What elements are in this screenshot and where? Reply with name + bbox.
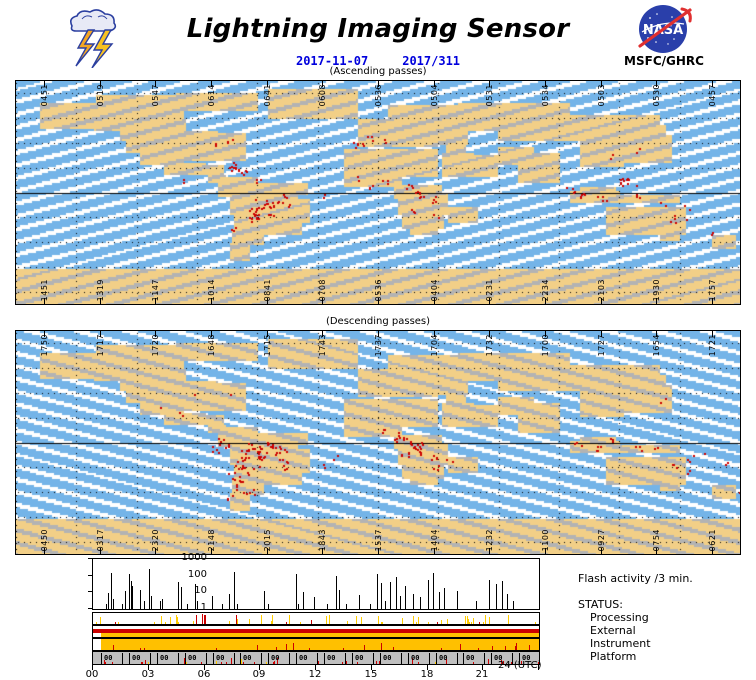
orbit-time-label-desc-top-3: 1648 [207, 334, 216, 356]
processing-spike [468, 619, 469, 624]
flash-activity-bar [212, 596, 213, 609]
platform-orbit-segment[interactable]: 00 [101, 653, 123, 664]
instrument-alert-spike [286, 644, 287, 650]
instrument-alert-spike [516, 643, 517, 650]
orbit-time-label-asc-top-3: 0614 [207, 84, 216, 106]
processing-spike [413, 616, 414, 624]
flash-activity-bar [433, 573, 434, 609]
instrument-alert-spike [293, 643, 294, 650]
platform-segment-label: 00 [132, 654, 140, 662]
orbit-time-label-asc-top-11: 0530 [652, 84, 661, 106]
flash-activity-bar [111, 573, 112, 609]
legend-processing: Processing [590, 611, 649, 624]
processing-spike [347, 621, 348, 624]
platform-segment-label: 00 [411, 654, 419, 662]
x-axis-label-12: 12 [300, 669, 330, 680]
processing-spike [165, 622, 166, 624]
orbit-time-label-asc-top-8: 0531 [485, 84, 494, 106]
instrument-alert-spike [478, 648, 479, 650]
y-axis-label-1000: 1000 [147, 552, 207, 563]
descending-map-canvas [16, 331, 740, 554]
processing-spike [154, 622, 155, 624]
processing-spike [508, 615, 509, 624]
instrument-alert-spike [309, 648, 310, 650]
platform-segment-label: 00 [327, 654, 335, 662]
processing-spike [485, 615, 486, 624]
descending-pass-map[interactable]: 1750171717201648171517431737170417321700… [15, 330, 741, 555]
processing-spike [261, 615, 262, 624]
processing-spike [489, 617, 490, 624]
processing-spike [416, 622, 417, 624]
processing-alert-spike [437, 622, 438, 624]
orbit-time-label-desc-bottom-11: 0754 [652, 529, 661, 551]
orbit-time-label-asc-top-1: 0519 [96, 84, 105, 106]
processing-spike [100, 617, 101, 624]
platform-orbit-segment[interactable]: 00 [324, 653, 346, 664]
orbit-time-label-asc-bottom-7: 0404 [430, 279, 439, 301]
processing-spike [535, 622, 536, 624]
instrument-alert-spike [393, 647, 394, 650]
processing-spike [118, 622, 119, 624]
flash-activity-bar [339, 590, 340, 609]
time-axis: 0003060912151821 [92, 665, 540, 679]
flash-activity-bar [229, 594, 230, 609]
platform-alert-spike [318, 661, 319, 664]
processing-spike [356, 616, 357, 624]
flash-activity-bar [222, 604, 223, 609]
x-axis-label-15: 15 [356, 669, 386, 680]
orbit-time-label-desc-bottom-12: 0621 [708, 529, 717, 551]
orbit-time-label-desc-bottom-3: 2148 [207, 529, 216, 551]
flash-activity-bar [496, 584, 497, 609]
orbit-time-label-desc-bottom-6: 1537 [374, 529, 383, 551]
orbit-time-label-asc-bottom-12: 1757 [708, 279, 717, 301]
y-axis-tick [88, 608, 93, 609]
flash-activity-bar [264, 591, 265, 609]
flash-activity-bar [144, 601, 145, 609]
orbit-time-label-desc-bottom-9: 1100 [541, 529, 550, 551]
processing-spike [447, 619, 448, 624]
processing-spike [96, 622, 97, 624]
instrument-alert-spike [441, 648, 442, 650]
page-header: Lightning Imaging Sensor 2017-11-072017/… [0, 0, 756, 78]
orbit-time-label-desc-top-12: 1721 [708, 334, 717, 356]
processing-spike [329, 615, 330, 624]
flash-activity-bar [370, 604, 371, 609]
processing-spike [178, 622, 179, 624]
platform-segment-label: 00 [243, 654, 251, 662]
platform-segment-label: 00 [299, 654, 307, 662]
instrument-alert-spike [381, 643, 382, 650]
processing-alert-spike [205, 615, 206, 624]
x-axis-label-03: 03 [133, 669, 163, 680]
processing-spike [272, 615, 273, 624]
orbit-time-label-asc-bottom-1: 1319 [96, 279, 105, 301]
flash-activity-bar [346, 604, 347, 609]
y-axis-tick [88, 591, 93, 592]
flash-activity-bar [129, 574, 130, 609]
instrument-status-fill [101, 639, 539, 650]
instrument-alert-spike [529, 645, 530, 650]
platform-orbit-segment[interactable]: 00 [268, 653, 290, 664]
processing-alert-spike [286, 622, 287, 624]
nasa-meatball-icon: NASA [624, 4, 702, 54]
flash-activity-bar [444, 588, 445, 609]
legend-platform: Platform [590, 650, 636, 663]
platform-alert-spike [346, 661, 347, 664]
processing-alert-spike [479, 622, 480, 624]
processing-spike [428, 622, 429, 624]
x-axis-label-00: 00 [77, 669, 107, 680]
processing-spike [483, 622, 484, 624]
platform-warn-spike [266, 662, 267, 664]
nasa-center-label: MSFC/GHRC [612, 54, 716, 68]
processing-spike [473, 618, 474, 624]
ascending-map-canvas [16, 81, 740, 304]
x-axis-label-18: 18 [412, 669, 442, 680]
instrument-alert-spike [276, 647, 277, 650]
flash-activity-bar [113, 599, 114, 609]
orbit-time-label-desc-bottom-2: 2320 [151, 529, 160, 551]
flash-activity-bar [476, 601, 477, 609]
orbit-time-label-asc-top-2: 0547 [151, 84, 160, 106]
processing-spike [176, 615, 177, 624]
processing-alert-spike [311, 620, 312, 624]
processing-spike [300, 622, 301, 624]
flash-activity-bar [234, 572, 235, 609]
flash-activity-bar [108, 593, 109, 609]
instrument-alert-spike [257, 645, 258, 650]
orbit-time-label-desc-top-9: 1700 [541, 334, 550, 356]
processing-spike [193, 621, 194, 624]
orbit-time-label-asc-top-6: 0536 [374, 84, 383, 106]
orbit-time-label-desc-top-7: 1704 [430, 334, 439, 356]
processing-spike [229, 621, 230, 624]
orbit-time-label-asc-bottom-9: 2234 [541, 279, 550, 301]
flash-activity-bar [428, 580, 429, 609]
processing-spike [326, 616, 327, 624]
flash-activity-bar [390, 582, 391, 609]
orbit-time-label-desc-bottom-1: 0317 [96, 529, 105, 551]
processing-spike [289, 615, 290, 624]
flash-activity-bar [140, 590, 141, 609]
flash-activity-bar [377, 574, 378, 609]
processing-spike [418, 617, 419, 624]
orbit-time-label-asc-top-0: 0451 [40, 84, 49, 106]
flash-activity-bar [122, 604, 123, 609]
flash-activity-bar [336, 576, 337, 609]
orbit-time-label-desc-bottom-5: 1843 [318, 529, 327, 551]
processing-spike [161, 616, 162, 624]
processing-alert-spike [196, 615, 197, 624]
processing-alert-spike [204, 615, 205, 624]
flash-activity-bar [457, 591, 458, 609]
flash-activity-bar [420, 597, 421, 609]
orbit-time-label-desc-top-6: 1737 [374, 334, 383, 356]
orbit-time-label-asc-bottom-3: 1014 [207, 279, 216, 301]
x-axis-label-21: 21 [467, 669, 497, 680]
flash-activity-bar [303, 592, 304, 609]
platform-orbit-segment[interactable]: 00 [380, 653, 402, 664]
y-axis-label-10: 10 [147, 585, 207, 596]
orbit-time-label-asc-bottom-2: 1147 [151, 279, 160, 301]
platform-orbit-segment[interactable]: 00 [185, 653, 207, 664]
flash-activity-bar [405, 586, 406, 609]
processing-spike [249, 619, 250, 624]
flash-activity-bar [400, 596, 401, 609]
flash-activity-bar [507, 594, 508, 609]
legend-instrument: Instrument [590, 637, 651, 650]
flash-activity-bar [296, 574, 297, 609]
orbit-time-label-desc-top-0: 1750 [40, 334, 49, 356]
instrument-alert-spike [140, 648, 141, 650]
orbit-time-label-desc-top-2: 1720 [151, 334, 160, 356]
flash-activity-bar [413, 594, 414, 609]
processing-spike [378, 616, 379, 624]
flash-activity-bar [439, 592, 440, 609]
instrument-alert-spike [460, 644, 461, 650]
orbit-time-label-asc-bottom-11: 1930 [652, 279, 661, 301]
orbit-time-label-asc-top-7: 0504 [430, 84, 439, 106]
x-axis-label-06: 06 [189, 669, 219, 680]
orbit-time-label-asc-top-10: 0503 [597, 84, 606, 106]
processing-spike [469, 622, 470, 624]
status-row-external[interactable] [92, 625, 540, 638]
orbit-time-label-asc-top-4: 0641 [263, 84, 272, 106]
platform-orbit-segment[interactable]: 00 [352, 653, 374, 664]
x-axis-label-09: 09 [244, 669, 274, 680]
y-axis-tick [88, 558, 93, 559]
processing-spike [465, 616, 466, 624]
status-row-platform[interactable]: 00000000000000000000000000000000 [92, 651, 540, 665]
status-row-processing[interactable] [92, 612, 540, 625]
processing-spike [361, 617, 362, 624]
processing-spike [170, 617, 171, 624]
instrument-alert-spike [113, 645, 114, 650]
flash-activity-bar [298, 604, 299, 609]
orbit-time-label-asc-bottom-6: 0536 [374, 279, 383, 301]
flash-activity-bar [125, 591, 126, 609]
legend-flash-activity: Flash activity /3 min. [578, 572, 693, 585]
platform-segment-label: 00 [160, 654, 168, 662]
flash-activity-bar [359, 595, 360, 609]
orbit-time-label-desc-top-5: 1743 [318, 334, 327, 356]
platform-segment-label: 00 [439, 654, 447, 662]
utc-end-label: 24 (UTC) [498, 660, 542, 671]
platform-segment-label: 00 [104, 654, 112, 662]
orbit-time-label-asc-top-5: 0608 [318, 84, 327, 106]
flash-activity-bar [502, 581, 503, 609]
platform-segment-label: 00 [216, 654, 224, 662]
instrument-alert-spike [343, 648, 344, 650]
orbit-time-label-desc-bottom-8: 1232 [485, 529, 494, 551]
y-axis-label-1: 1 [147, 602, 207, 613]
flash-activity-bar [268, 604, 269, 609]
platform-orbit-segment[interactable]: 00 [240, 653, 262, 664]
orbit-time-label-desc-top-4: 1715 [263, 334, 272, 356]
platform-alert-spike [488, 659, 489, 664]
processing-alert-spike [236, 615, 237, 624]
flash-activity-bar [314, 597, 315, 609]
orbit-time-label-desc-top-8: 1732 [485, 334, 494, 356]
flash-activity-bar [396, 577, 397, 609]
platform-segment-label: 00 [466, 654, 474, 662]
activity-panel: 00000000000000000000000000000000 0003060… [0, 556, 756, 680]
platform-orbit-segment[interactable]: 00 [463, 653, 485, 664]
orbit-time-label-desc-top-1: 1717 [96, 334, 105, 356]
legend-status-title: STATUS: [578, 598, 623, 611]
flash-activity-bar [489, 580, 490, 609]
flash-activity-bar [381, 583, 382, 609]
instrument-alert-spike [505, 646, 506, 650]
platform-segment-label: 00 [271, 654, 279, 662]
platform-orbit-segment[interactable]: 00 [408, 653, 430, 664]
y-axis-tick [88, 575, 93, 576]
platform-orbit-segment[interactable]: 00 [129, 653, 151, 664]
processing-alert-spike [202, 614, 203, 624]
orbit-time-label-desc-bottom-4: 2015 [263, 529, 272, 551]
instrument-alert-spike [364, 645, 365, 650]
instrument-alert-spike [492, 646, 493, 650]
orbit-time-label-desc-top-10: 1727 [597, 334, 606, 356]
legend-external: External [590, 624, 636, 637]
flash-activity-bar [385, 601, 386, 609]
orbit-time-label-asc-bottom-10: 2103 [597, 279, 606, 301]
status-row-instrument[interactable] [92, 638, 540, 651]
orbit-time-label-asc-top-12: 0457 [708, 84, 717, 106]
orbit-time-label-asc-bottom-0: 1451 [40, 279, 49, 301]
processing-spike [471, 622, 472, 624]
processing-alert-spike [115, 622, 116, 624]
flash-activity-bar [513, 601, 514, 609]
flash-activity-bar [132, 586, 133, 609]
orbit-time-label-desc-top-11: 1654 [652, 334, 661, 356]
ascending-pass-map[interactable]: 0451051905470614064106080536050405310534… [15, 80, 741, 305]
flash-activity-bar [237, 604, 238, 609]
platform-orbit-segment[interactable]: 00 [213, 653, 235, 664]
orbit-time-label-asc-bottom-5: 0708 [318, 279, 327, 301]
platform-alert-spike [376, 661, 377, 664]
flash-activity-bar [327, 604, 328, 609]
y-axis-label-100: 100 [147, 569, 207, 580]
platform-orbit-segment[interactable]: 00 [436, 653, 458, 664]
processing-spike [237, 619, 238, 624]
platform-segment-label: 00 [383, 654, 391, 662]
instrument-alert-spike [144, 648, 145, 650]
descending-pass-caption: (Descending passes) [0, 316, 756, 327]
platform-orbit-segment[interactable]: 00 [157, 653, 179, 664]
processing-spike [441, 620, 442, 624]
platform-segment-label: 00 [355, 654, 363, 662]
processing-spike [402, 618, 403, 624]
orbit-time-label-asc-bottom-8: 0231 [485, 279, 494, 301]
orbit-time-label-asc-top-9: 0534 [541, 84, 550, 106]
instrument-alert-spike [216, 648, 217, 650]
orbit-time-label-desc-bottom-0: 0450 [40, 529, 49, 551]
flash-activity-bar [106, 604, 107, 609]
orbit-time-label-desc-bottom-10: 0927 [597, 529, 606, 551]
orbit-time-label-desc-bottom-7: 1404 [430, 529, 439, 551]
processing-spike [382, 622, 383, 624]
platform-orbit-segment[interactable]: 00 [296, 653, 318, 664]
orbit-time-label-asc-bottom-4: 0841 [263, 279, 272, 301]
platform-segment-label: 00 [188, 654, 196, 662]
